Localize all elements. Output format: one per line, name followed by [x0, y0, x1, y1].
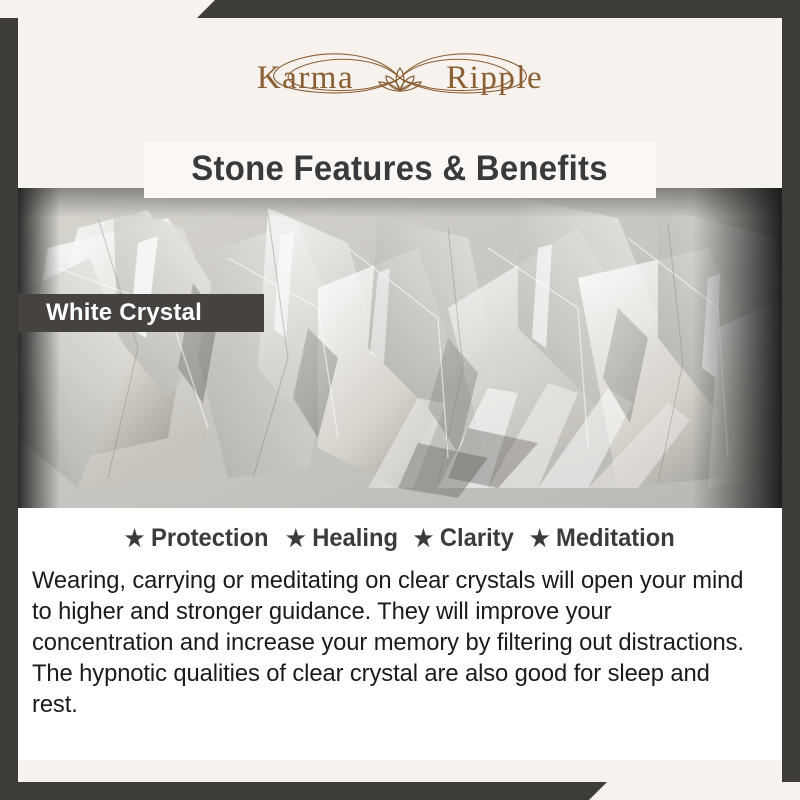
frame-right-bar	[782, 18, 800, 782]
promo-card: Karma Ripple Stone Features & Benefits	[0, 0, 800, 800]
benefit-label: Meditation	[556, 524, 675, 553]
brand-logo: Karma Ripple	[18, 42, 782, 114]
photo-left-shadow	[18, 188, 60, 508]
benefit-item-healing: ★ Healing	[286, 524, 398, 553]
benefit-label: Healing	[312, 524, 398, 553]
title-band: Stone Features & Benefits	[18, 140, 782, 200]
star-icon: ★	[286, 527, 306, 550]
photo-right-shadow	[692, 188, 782, 508]
benefit-item-meditation: ★ Meditation	[530, 524, 675, 553]
brand-word-left: Karma	[257, 62, 354, 95]
benefits-list: ★ Protection ★ Healing ★ Clarity ★ Medit…	[18, 524, 782, 553]
star-icon: ★	[413, 527, 433, 550]
star-icon: ★	[530, 527, 550, 550]
card-body: Karma Ripple Stone Features & Benefits	[18, 18, 782, 782]
star-icon: ★	[125, 527, 145, 550]
benefit-label: Protection	[151, 524, 268, 553]
photo-caption-label: White Crystal	[18, 299, 202, 327]
benefit-item-clarity: ★ Clarity	[413, 524, 513, 553]
crystal-photo	[18, 188, 782, 508]
brand-word-right: Ripple	[446, 62, 543, 95]
benefit-label: Clarity	[439, 524, 513, 553]
title-plate: Stone Features & Benefits	[144, 142, 655, 198]
description-text: Wearing, carrying or meditating on clear…	[32, 565, 746, 721]
page-title: Stone Features & Benefits	[192, 149, 609, 189]
content-panel: ★ Protection ★ Healing ★ Clarity ★ Medit…	[18, 508, 782, 760]
lotus-icon	[378, 61, 422, 95]
photo-caption-banner: White Crystal	[18, 294, 264, 332]
frame-top-bar	[0, 0, 800, 18]
frame-bottom-bar	[0, 782, 800, 800]
crystal-photo-art	[18, 188, 782, 508]
brand-lockup: Karma Ripple	[240, 44, 560, 112]
frame-left-bar	[0, 18, 18, 782]
benefit-item-protection: ★ Protection	[125, 524, 269, 553]
